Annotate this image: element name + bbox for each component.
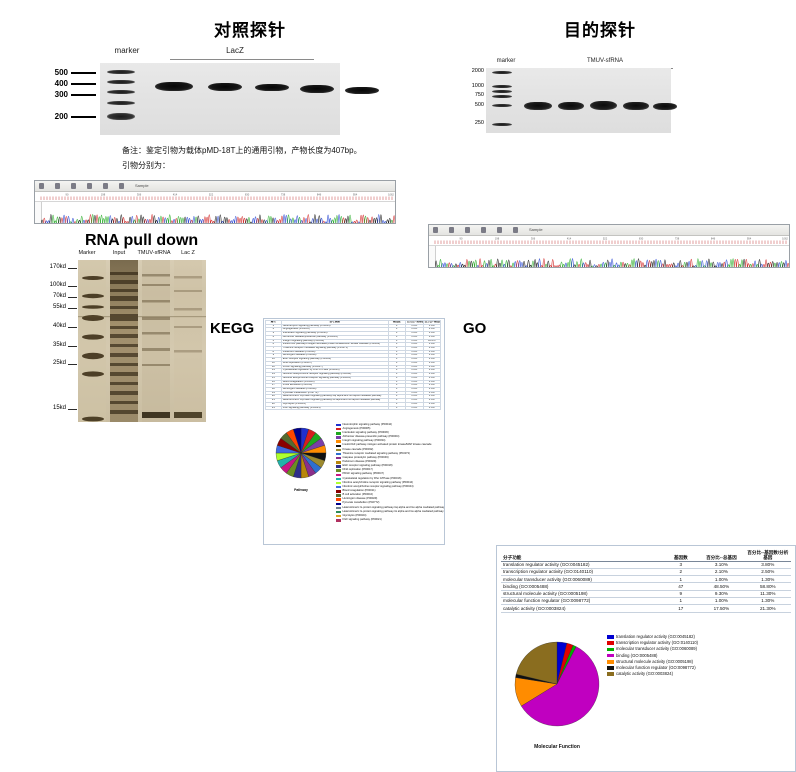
table-row[interactable]: 20Heterotrimeric G-protein signaling pat… [266,395,441,399]
legend-swatch [607,635,614,639]
chromatogram-peak [453,266,455,268]
chromatogram-peak [569,259,571,268]
chromatogram-peak [378,215,380,224]
chromatogram-peak [160,216,162,224]
chromatogram-peak [699,261,701,268]
table-cell: 1.0% [423,406,441,410]
rna-pulldown-panel: Marker Input TMUV-sfRNA Lac Z 170kd 100k… [52,250,212,450]
control-gel-band-lane4 [300,85,334,93]
chromatogram-peak [626,263,628,268]
chromatogram-peak [329,218,331,224]
chromatogram-peak [688,261,690,268]
chromatogram-peak [695,266,697,268]
chromatogram-peak [461,264,463,268]
chromatogram-peak [158,217,160,224]
chromatogram-peak [358,222,360,224]
chromatogram-peak [589,260,591,268]
go-pie-svg [505,634,609,736]
control-gel-mw-500: 500 [38,68,68,77]
zoom-icon[interactable] [103,183,108,189]
chromatogram-peak [109,216,111,224]
chromatogram-peak [774,263,776,268]
ruler-ticks: 901983064145226307388469541062 [37,192,395,201]
chromatogram-peak [111,219,113,224]
chromatogram-peak [536,263,538,268]
table-cell: 23 [266,406,282,410]
chromatogram-peak [571,259,573,268]
sds-tick-40 [68,327,77,328]
chromatogram-peak [386,220,388,224]
table-row[interactable]: 23FGF signaling pathway (P00021)11.0%1.0… [266,406,441,410]
svg-text:414: 414 [567,237,572,241]
chromatogram-peak [780,262,782,268]
chromatogram-peak [140,215,142,224]
chromatogram-peak [767,263,769,268]
target-gel-band-lane2 [558,102,584,110]
chromatogram-peak [446,264,448,268]
table-cell: molecular function regulator (GO:0098772… [501,597,663,604]
chromatogram-peak [560,262,562,268]
go-pie-title: Molecular Function [505,744,609,750]
svg-text:954: 954 [747,237,752,241]
chromatogram-peak [648,260,650,268]
info-icon[interactable] [119,183,124,189]
chromatogram-peak [739,264,741,268]
chromatogram-sample-title-right: Sample [529,227,543,232]
table-cell: 2.10% [698,568,744,575]
control-gel-tick-300 [71,94,96,96]
save-icon[interactable] [433,227,438,233]
legend-label: transcription regulator activity (GO:014… [616,641,698,645]
table-row[interactable]: translation regulator activity (GO:00451… [501,561,791,568]
chromatogram-peak [318,216,320,224]
table-row[interactable]: 21Heterotrimeric G-protein signaling pat… [266,399,441,403]
legend-label: DNA replication (P00017) [343,469,373,472]
chromatogram-peak [567,263,569,268]
chromatogram-peak [334,218,336,224]
target-gel-mw-1000: 1000 [452,83,484,89]
svg-text:630: 630 [639,237,644,241]
chromatogram-peak [162,217,164,224]
legend-swatch [336,503,341,505]
chromatogram-peak [246,219,248,224]
chromatogram-peak [272,218,274,224]
chromatogram-peak [228,219,230,224]
chromatogram-peak [371,217,373,224]
chromatogram-peak [591,266,593,268]
chromatogram-peak [761,264,763,268]
chromatogram-peak [87,220,89,224]
sds-lane-label-input: Input [108,250,130,256]
chromatogram-peak [470,261,472,268]
chromatogram-peak [613,265,615,268]
legend-label: Thiamine receptor mediated signaling pat… [343,453,410,456]
kegg-table-body: 1Neurotrophin signaling pathway (P00044)… [266,324,441,410]
legend-swatch [336,507,341,509]
rna-pulldown-title: RNA pull down [85,232,198,250]
control-gel-mw-200: 200 [38,112,68,121]
chromatogram-peak [347,216,349,224]
legend-swatch [607,672,614,676]
legend-label: Nicotinic acetylcholine receptor signali… [343,486,414,489]
chromatogram-peak [290,219,292,224]
chromatogram-peak [635,261,637,268]
chromatogram-peak [373,218,375,224]
svg-text:306: 306 [137,193,142,197]
chromatogram-peak [734,259,736,268]
control-gel-marker-band [107,113,135,120]
chromatogram-peak [585,263,587,268]
open-icon[interactable] [449,227,454,233]
chromatogram-peak [554,266,556,268]
chromatogram-peak [624,264,626,268]
chromatogram-peak [488,260,490,268]
chromatogram-peak [712,262,714,268]
chromatogram-peak [248,217,250,224]
svg-text:954: 954 [353,193,358,197]
table-cell: Heterotrimeric G-protein signaling pathw… [281,395,388,399]
chromatogram-peak [629,265,631,268]
chromatogram-peak [492,266,494,268]
chromatogram-peak [499,263,501,268]
chromatogram-peak [268,216,270,224]
table-row[interactable]: catalytic activity (GO:0003824)1717.50%2… [501,605,791,612]
chromatogram-peak [120,215,122,224]
info-icon[interactable] [513,227,518,233]
chromatogram-toolbar-left[interactable]: Sample [35,181,395,192]
table-row[interactable]: molecular transducer activity (GO:006008… [501,576,791,583]
chromatogram-peak [642,263,644,268]
chromatogram-peak [147,219,149,224]
chromatogram-peak [314,215,316,224]
chromatogram-peak [708,259,710,268]
chromatogram-peak [274,218,276,224]
chromatogram-peak [356,220,358,224]
chromatogram-peak [552,259,554,268]
legend-swatch [336,440,341,442]
chromatogram-peak [129,217,131,224]
svg-text:306: 306 [531,237,536,241]
target-gel-marker-label: marker [488,58,524,64]
target-gel-band-lane3 [590,101,617,110]
chromatogram-trace-left [35,202,395,224]
legend-swatch [336,445,341,447]
chromatogram-peak [54,221,56,224]
table-row[interactable]: structural molecule activity (GO:0005198… [501,590,791,597]
chromatogram-peak [556,266,558,268]
sds-tick-100 [68,286,77,287]
chromatogram-peak [171,221,173,224]
chromatogram-peak [52,215,54,224]
table-cell: 1 [388,406,406,410]
sds-tick-70 [68,297,77,298]
sds-mw-170: 170kd [38,264,66,270]
chromatogram-peak [609,262,611,268]
chromatogram-peak [510,266,512,268]
chromatogram-peak [620,262,622,268]
kegg-legend: Neurotrophin signaling pathway (P00044)A… [336,423,442,522]
control-gel-marker-label: marker [107,46,147,55]
chromatogram-peak [778,263,780,268]
chromatogram-peak [785,261,787,268]
table-cell: 1 [663,597,698,604]
chromatogram-peak [133,220,135,224]
chromatogram-peak [703,266,705,268]
legend-item: catalytic activity (GO:0003824) [607,671,793,677]
chromatogram-peak [301,220,303,224]
print-icon[interactable] [87,183,92,189]
chromatogram-peak [563,264,565,268]
chromatogram-peak [67,216,69,224]
legend-label: PDGF signaling pathway (P00047) [343,473,384,476]
chromatogram-peak [675,266,677,268]
zoom-icon[interactable] [497,227,502,233]
table-row[interactable]: molecular function regulator (GO:0098772… [501,597,791,604]
chromatogram-peak [195,217,197,224]
control-gel-band-lane1 [155,82,193,91]
chromatogram-peak [325,222,327,224]
chromatogram-peak [631,260,633,268]
chromatogram-peak [144,219,146,224]
chromatogram-peak [543,259,545,268]
chromatogram-peak [239,218,241,224]
svg-text:198: 198 [495,237,500,241]
svg-text:846: 846 [711,237,716,241]
control-gel-mw-300: 300 [38,90,68,99]
open-icon[interactable] [55,183,60,189]
svg-text:846: 846 [317,193,322,197]
chromatogram-peak [602,262,604,268]
chromatogram-peak [219,215,221,224]
chromatogram-peak [294,220,296,224]
legend-swatch [336,436,341,438]
chromatogram-peak [679,260,681,268]
chromatogram-peak [151,215,153,224]
table-cell: 48.50% [698,583,744,590]
sds-mw-40: 40kd [38,323,66,329]
chromatogram-peak [138,219,140,224]
table-cell: 1.0% [406,406,424,410]
print-icon[interactable] [481,227,486,233]
control-gel-tick-400 [71,83,96,85]
target-gel-mw-250: 250 [452,120,484,126]
chromatogram-peak [263,220,265,224]
chromatogram-peak [362,215,364,224]
chromatogram-peak [640,261,642,268]
control-gel-band-lane5 [345,87,379,94]
kegg-pie-chart: Pathway [270,424,336,494]
chromatogram-peak [580,259,582,268]
legend-label: Heterotrimeric G-protein signaling pathw… [343,511,444,514]
sds-tick-170 [68,268,77,269]
kegg-table: 编号 信号通路 基因数 百分比--总基因 百分比--基因数/分析基因 1Neur… [265,320,441,410]
target-gel-sample-label: TMUV-sfRNA [540,58,670,64]
legend-swatch [336,515,341,517]
chromatogram-peak [681,266,683,268]
chromatogram-peak [149,219,151,224]
go-table-body: translation regulator activity (GO:00451… [501,561,791,612]
chromatogram-peak [206,217,208,224]
sds-tick-55 [68,308,77,309]
chromatogram-peak [105,217,107,224]
export-icon[interactable] [71,183,76,189]
chromatogram-peak [719,262,721,268]
chromatogram-peak [351,222,353,224]
control-gel-marker-band [107,70,135,74]
chromatogram-peak [367,218,369,224]
go-legend: translation regulator activity (GO:00451… [607,634,793,677]
legend-swatch [336,498,341,500]
legend-swatch [336,465,341,467]
chromatogram-peak [217,216,219,224]
sds-mw-25: 25kd [38,360,66,366]
chromatogram-peak [600,264,602,268]
chromatogram-peak [611,259,613,268]
chromatogram-peak [653,261,655,268]
chromatogram-peak [455,264,457,268]
chromatogram-peak [668,264,670,268]
control-gel-sample-label: LacZ [165,46,305,55]
target-gel-mw-2000: 2000 [452,68,484,74]
table-cell: 9.30% [698,590,744,597]
go-pie-chart: Molecular Function [505,634,615,752]
chromatogram-peak [96,215,98,224]
legend-label: FGF signaling pathway (P00021) [343,519,382,522]
table-row[interactable]: 6Insulin/IGF pathway-mitogen activated p… [266,343,441,347]
svg-text:1062: 1062 [782,237,788,241]
chromatogram-peaks-right [435,246,790,268]
chromatogram-peak [472,262,474,268]
chromatogram-peak [501,260,503,268]
chromatogram-toolbar-right[interactable]: Sample [429,225,789,236]
legend-swatch [336,457,341,459]
sds-lane-label-marker: Marker [74,250,100,256]
table-row[interactable]: binding (GO:0005488)4748.50%58.80% [501,583,791,590]
legend-swatch [607,654,614,658]
chromatogram-peak [732,259,734,268]
chromatogram-peak [74,222,76,224]
chromatogram-peak [92,215,94,224]
chromatogram-peak [241,216,243,224]
chromatogram-peak [655,259,657,268]
sds-mw-35: 35kd [38,342,66,348]
chromatogram-peak [690,259,692,268]
chromatogram-peak [723,262,725,268]
control-gel-tick-200 [71,116,96,118]
svg-text:630: 630 [245,193,250,197]
target-probe-title: 目的探针 [500,16,700,41]
legend-label: Cytoskeletal regulation by Rho GTPase (P… [343,478,402,481]
chromatogram-peak [221,221,223,224]
chromatogram-peak [232,220,234,224]
control-gel-marker-band [107,90,135,94]
chromatogram-peak [497,259,499,268]
chromatogram-peak [475,260,477,268]
sds-tick-15 [68,409,77,410]
ruler-ticks: 901983064145226307388469541062 [431,236,789,245]
chromatogram-peak [692,266,694,268]
export-icon[interactable] [465,227,470,233]
chromatogram-peak [384,221,386,224]
table-cell: 1.00% [698,576,744,583]
kegg-pie-title: Pathway [270,488,332,492]
chromatogram-peak [541,266,543,268]
table-cell: transcription regulator activity (GO:014… [501,568,663,575]
legend-swatch [336,482,341,484]
kegg-spreadsheet[interactable]: 编号 信号通路 基因数 百分比--总基因 百分比--基因数/分析基因 1Neur… [263,318,445,545]
chromatogram-peak [776,262,778,268]
chromatogram-peak [197,216,199,224]
save-icon[interactable] [39,183,44,189]
table-cell: 2.50% [745,568,791,575]
chromatogram-peak [281,216,283,224]
chromatogram-peak [305,218,307,224]
legend-swatch [336,511,341,513]
chromatogram-peak [508,260,510,268]
table-cell: 1.30% [745,576,791,583]
chromatogram-peak [320,218,322,224]
chromatogram-peak [252,218,254,224]
table-cell: 47 [663,583,698,590]
sds-mw-70: 70kd [38,293,66,299]
chromatogram-peak [191,220,193,224]
legend-item: FGF signaling pathway (P00021) [336,518,442,522]
legend-label: Nicotine acetylcholine receptor signalin… [343,482,414,485]
svg-text:1062: 1062 [388,193,394,197]
chromatogram-peak [664,260,666,268]
go-header-pct1: 百分比--总基因 [698,549,744,561]
chromatogram-peak [283,215,285,224]
chromatogram-peak [331,220,333,224]
go-section-label: GO [463,320,486,337]
chromatogram-peak [122,217,124,224]
table-cell: 3 [663,561,698,568]
chromatogram-peak [538,259,540,268]
chromatogram-peak [182,218,184,224]
chromatogram-peak [98,217,100,224]
chromatogram-peak [50,215,52,224]
legend-swatch [607,641,614,645]
chromatogram-peak [686,262,688,268]
legend-swatch [336,424,341,426]
chromatogram-peak [479,259,481,268]
control-gel-marker-band [107,80,135,84]
target-gel-band-lane4 [623,102,649,110]
chromatogram-peak [758,259,760,268]
chromatogram-peak [765,260,767,268]
table-cell: 11.30% [745,590,791,597]
chromatogram-peak [701,261,703,268]
chromatogram-peak [166,218,168,224]
chromatogram-peak [442,263,444,268]
go-spreadsheet[interactable]: 分子功能 基因数 百分比--总基因 百分比--基因数/分析基因 translat… [496,545,796,772]
sds-gel-bands [78,260,206,422]
chromatogram-peak [651,262,653,268]
chromatogram-peak [78,220,80,224]
legend-label: Kinase cascade (P00032) [343,449,374,452]
chromatogram-peak [783,263,785,268]
chromatogram-peak [730,259,732,268]
table-row[interactable]: transcription regulator activity (GO:014… [501,568,791,575]
target-gel-marker-band [492,85,512,88]
chromatogram-peak [657,261,659,268]
go-table-wrap: 分子功能 基因数 百分比--总基因 百分比--基因数/分析基因 translat… [501,549,791,633]
chromatogram-peak [369,220,371,224]
chromatogram-peak [250,222,252,224]
chromatogram-peak [521,262,523,268]
go-header-function: 分子功能 [501,549,663,561]
target-gel-marker-band [492,95,512,98]
